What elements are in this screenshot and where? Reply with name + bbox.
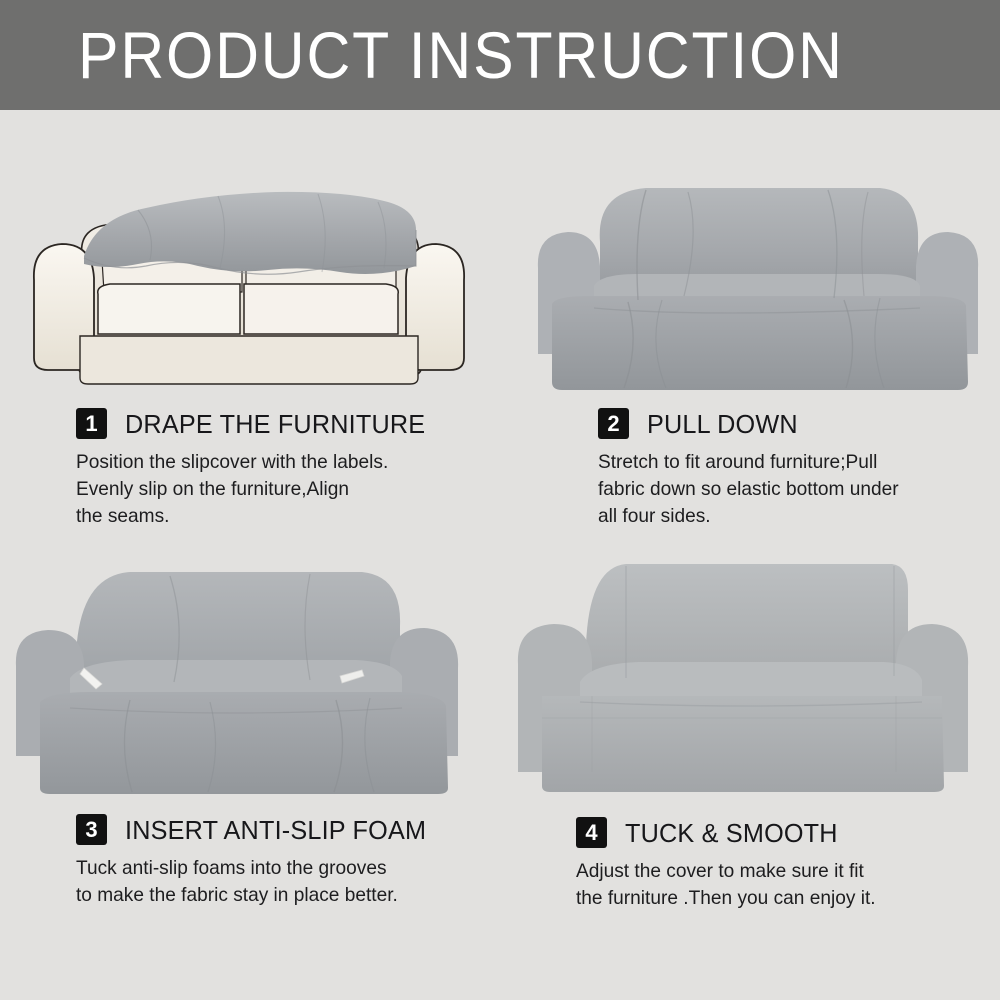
step-title-4: TUCK & SMOOTH (625, 819, 838, 847)
page-title: PRODUCT INSTRUCTION (78, 22, 844, 88)
step-card-2: 2 PULL DOWN Stretch to fit around furnit… (528, 168, 988, 530)
step-caption-2: 2 PULL DOWN Stretch to fit around furnit… (598, 408, 988, 530)
step-number-badge-4: 4 (576, 817, 607, 848)
step-image-2 (528, 168, 988, 396)
step-card-1: 1 DRAPE THE FURNITURE Position the slipc… (18, 168, 480, 530)
step-header-3: 3 INSERT ANTI-SLIP FOAM (76, 814, 480, 845)
step-title-2: PULL DOWN (647, 410, 798, 438)
step-number-badge-3: 3 (76, 814, 107, 845)
header-banner: PRODUCT INSTRUCTION (0, 0, 1000, 110)
step-card-3: 3 INSERT ANTI-SLIP FOAM Tuck anti-slip f… (10, 550, 480, 909)
steps-grid: 1 DRAPE THE FURNITURE Position the slipc… (0, 110, 1000, 1000)
step-number-badge-2: 2 (598, 408, 629, 439)
step-caption-4: 4 TUCK & SMOOTH Adjust the cover to make… (576, 817, 988, 912)
step-header-4: 4 TUCK & SMOOTH (576, 817, 988, 848)
step-header-2: 2 PULL DOWN (598, 408, 988, 439)
step-title-3: INSERT ANTI-SLIP FOAM (125, 816, 426, 844)
step-image-4 (498, 546, 988, 801)
step-body-4: Adjust the cover to make sure it fit the… (576, 858, 980, 912)
step-image-3 (10, 550, 480, 800)
step-number-badge-1: 1 (76, 408, 107, 439)
step-caption-3: 3 INSERT ANTI-SLIP FOAM Tuck anti-slip f… (76, 814, 480, 909)
step-header-1: 1 DRAPE THE FURNITURE (76, 408, 480, 439)
step-card-4: 4 TUCK & SMOOTH Adjust the cover to make… (498, 546, 988, 912)
step-title-1: DRAPE THE FURNITURE (125, 410, 425, 438)
step-body-3: Tuck anti-slip foams into the grooves to… (76, 855, 472, 909)
step-caption-1: 1 DRAPE THE FURNITURE Position the slipc… (76, 408, 480, 530)
step-image-1 (18, 168, 480, 396)
step-body-2: Stretch to fit around furniture;Pull fab… (598, 449, 980, 530)
step-body-1: Position the slipcover with the labels. … (76, 449, 472, 530)
